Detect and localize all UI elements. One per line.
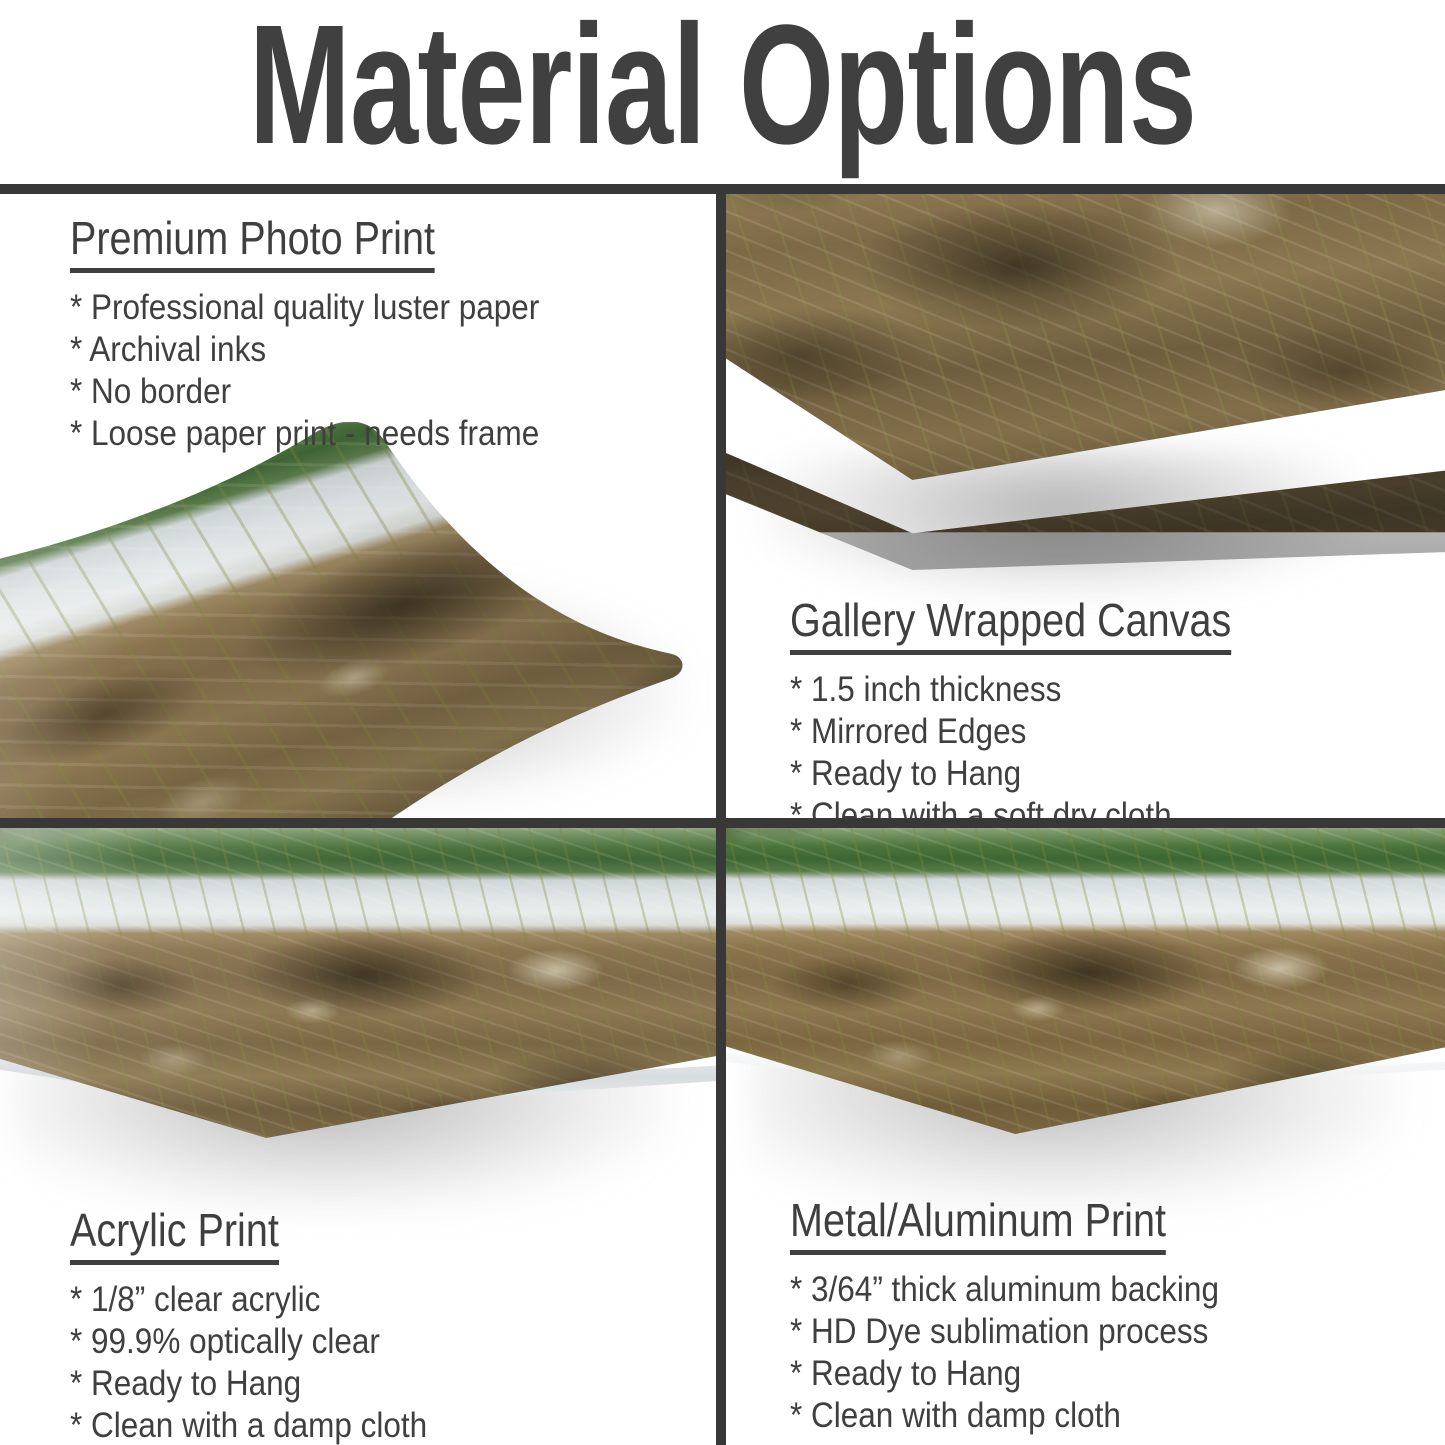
gallery-wrapped-canvas-text: Gallery Wrapped Canvas * 1.5 inch thickn… — [790, 594, 1303, 818]
gallery-wrapped-canvas-image — [726, 194, 1445, 610]
panel-metal-aluminum-print: Metal/Aluminum Print * 3/64” thick alumi… — [726, 828, 1445, 1445]
title-bar: Material Options — [0, 0, 1445, 184]
list-item: * Loose paper print - needs frame — [70, 413, 539, 455]
list-item: * 1/8” clear acrylic — [70, 1279, 427, 1321]
material-options-infographic: Material Options Premium Photo Print * P… — [0, 0, 1445, 1445]
list-item: * Ready to Hang — [70, 1363, 427, 1405]
landscape-photo-rock-closeup — [726, 194, 1445, 480]
panel-premium-photo-print: Premium Photo Print * Professional quali… — [0, 194, 716, 818]
panel-heading: Premium Photo Print — [70, 212, 435, 273]
list-item: * Clean with damp cloth — [790, 1395, 1219, 1437]
panel-heading: Acrylic Print — [70, 1204, 279, 1265]
panel-bullet-list: * 1.5 inch thickness * Mirrored Edges * … — [790, 669, 1252, 818]
list-item: * Ready to Hang — [790, 753, 1252, 795]
list-item: * HD Dye sublimation process — [790, 1311, 1219, 1353]
acrylic-print-image — [0, 828, 716, 1222]
panel-gallery-wrapped-canvas: Gallery Wrapped Canvas * 1.5 inch thickn… — [726, 194, 1445, 818]
page-title: Material Options — [202, 0, 1242, 178]
panel-bullet-list: * Professional quality luster paper * Ar… — [70, 287, 539, 455]
panel-heading: Metal/Aluminum Print — [790, 1194, 1166, 1255]
list-item: * Clean with a soft dry cloth — [790, 795, 1252, 818]
divider-vertical — [716, 184, 726, 1445]
list-item: * Professional quality luster paper — [70, 287, 539, 329]
panel-acrylic-print: Acrylic Print * 1/8” clear acrylic * 99.… — [0, 828, 716, 1445]
list-item: * Ready to Hang — [790, 1353, 1219, 1395]
panel-heading: Gallery Wrapped Canvas — [790, 594, 1231, 655]
acrylic-print-text: Acrylic Print * 1/8” clear acrylic * 99.… — [70, 1204, 467, 1445]
panel-bullet-list: * 3/64” thick aluminum backing * HD Dye … — [790, 1269, 1219, 1437]
list-item: * 99.9% optically clear — [70, 1321, 427, 1363]
list-item: * 1.5 inch thickness — [790, 669, 1252, 711]
metal-print-image — [726, 828, 1445, 1222]
premium-photo-print-text: Premium Photo Print * Professional quali… — [70, 212, 591, 455]
premium-photo-print-image — [0, 422, 716, 818]
list-item: * Mirrored Edges — [790, 711, 1252, 753]
list-item: * Archival inks — [70, 329, 539, 371]
canvas-top-face — [726, 194, 1445, 480]
list-item: * No border — [70, 371, 539, 413]
list-item: * 3/64” thick aluminum backing — [790, 1269, 1219, 1311]
metal-print-text: Metal/Aluminum Print * 3/64” thick alumi… — [790, 1194, 1267, 1437]
list-item: * Clean with a damp cloth — [70, 1405, 427, 1445]
panel-bullet-list: * 1/8” clear acrylic * 99.9% optically c… — [70, 1279, 427, 1445]
